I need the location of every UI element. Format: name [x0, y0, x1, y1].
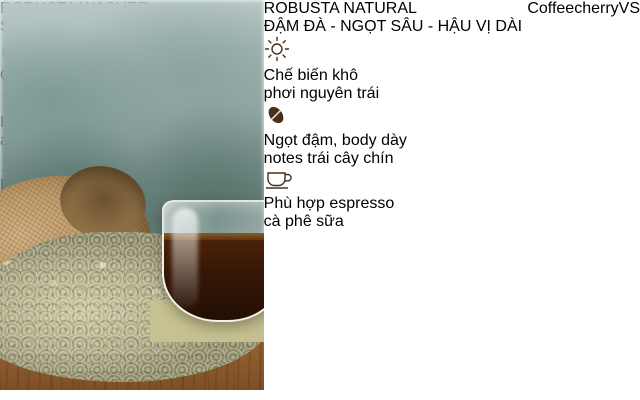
- glass-highlight: [172, 208, 198, 308]
- brand-wordmark: Coffeecherry: [527, 0, 618, 18]
- vs-badge: VS: [619, 0, 640, 390]
- comparison-infographic: ROBUSTA WASHED SẠCH VỊ - RÕ RÀNG - CÂN B…: [0, 0, 640, 390]
- glass-mug-black-coffee: [162, 200, 264, 322]
- panel-robusta-natural: ROBUSTA NATURAL ĐẬM ĐÀ - NGỌT SÂU - HẬU …: [264, 0, 528, 390]
- left-photo-scene: [0, 0, 264, 390]
- panel-robusta-washed: ROBUSTA WASHED SẠCH VỊ - RÕ RÀNG - CÂN B…: [0, 0, 264, 390]
- brand-logo: Coffeecherry: [527, 0, 618, 390]
- right-photo-scene: [264, 0, 528, 390]
- drying-patio-cherries: [264, 117, 528, 281]
